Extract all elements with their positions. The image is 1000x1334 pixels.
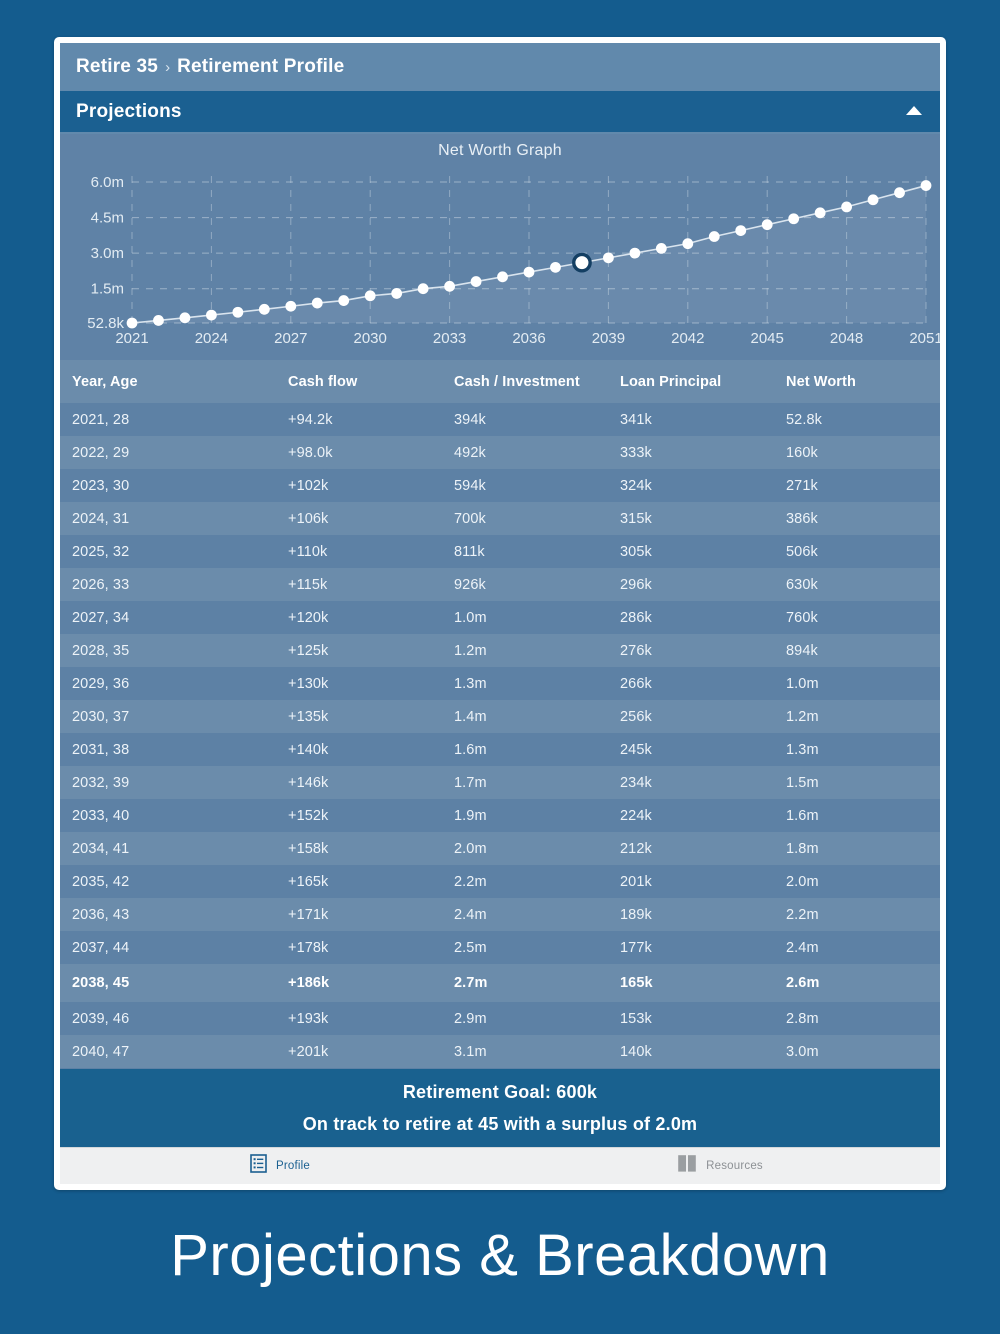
table-cell: 189k [620,898,786,931]
table-cell: 2040, 47 [60,1035,288,1068]
chart-point[interactable] [338,295,349,306]
table-row[interactable]: 2040, 47+201k3.1m140k3.0m [60,1035,940,1068]
column-header[interactable]: Year, Age [60,360,288,403]
chart-point[interactable] [285,301,296,312]
chart-point[interactable] [312,298,323,309]
chart-point[interactable] [127,318,138,329]
table-cell: 1.0m [786,667,940,700]
projections-table-wrap: Year, AgeCash flowCash / InvestmentLoan … [60,360,940,1069]
page-caption: Projections & Breakdown [0,1222,1000,1289]
table-cell: 760k [786,601,940,634]
chart-point[interactable] [841,201,852,212]
table-cell: 2023, 30 [60,469,288,502]
table-cell: 153k [620,1002,786,1035]
table-cell: 1.3m [454,667,620,700]
table-cell: 2.4m [454,898,620,931]
table-row[interactable]: 2033, 40+152k1.9m224k1.6m [60,799,940,832]
table-cell: +140k [288,733,454,766]
table-cell: 2035, 42 [60,865,288,898]
table-cell: 165k [620,964,786,1002]
table-cell: 2.9m [454,1002,620,1035]
y-axis-tick-label: 3.0m [91,245,124,262]
table-cell: 3.1m [454,1035,620,1068]
x-axis-tick-label: 2042 [671,330,704,347]
table-cell: 1.3m [786,733,940,766]
table-cell: 2033, 40 [60,799,288,832]
table-cell: 1.6m [786,799,940,832]
table-row[interactable]: 2021, 28+94.2k394k341k52.8k [60,403,940,436]
table-cell: +146k [288,766,454,799]
table-row[interactable]: 2037, 44+178k2.5m177k2.4m [60,931,940,964]
x-axis-tick-label: 2045 [751,330,784,347]
retirement-goal-status: On track to retire at 45 with a surplus … [303,1114,698,1135]
chart-point[interactable] [444,281,455,292]
table-cell: 2029, 36 [60,667,288,700]
list-document-icon [250,1154,267,1178]
table-row[interactable]: 2023, 30+102k594k324k271k [60,469,940,502]
table-body: 2021, 28+94.2k394k341k52.8k2022, 29+98.0… [60,403,940,1069]
chart-point[interactable] [391,288,402,299]
table-cell: +130k [288,667,454,700]
table-cell: +152k [288,799,454,832]
chart-point[interactable] [206,310,217,321]
column-header[interactable]: Cash / Investment [454,360,620,403]
table-cell: 492k [454,436,620,469]
breadcrumb: Retire 35 › Retirement Profile [60,43,940,91]
chart-point[interactable] [868,194,879,205]
table-cell: 2031, 38 [60,733,288,766]
table-header: Year, AgeCash flowCash / InvestmentLoan … [60,360,940,403]
chart-point-highlighted[interactable] [574,254,590,270]
breadcrumb-root[interactable]: Retire 35 [76,56,158,78]
table-cell: 305k [620,535,786,568]
net-worth-chart: Net Worth Graph 52.8k1.5m3.0m4.5m6.0m 20… [60,134,940,360]
column-header[interactable]: Loan Principal [620,360,786,403]
chart-point[interactable] [735,225,746,236]
nav-label-resources: Resources [706,1160,763,1172]
table-cell: 2.0m [454,832,620,865]
table-cell: 2.6m [786,964,940,1002]
table-cell: 2036, 43 [60,898,288,931]
table-cell: 160k [786,436,940,469]
chart-point[interactable] [815,207,826,218]
table-cell: +98.0k [288,436,454,469]
table-cell: 256k [620,700,786,733]
table-cell: 315k [620,502,786,535]
table-cell: 2.0m [786,865,940,898]
table-cell: +125k [288,634,454,667]
table-cell: 2.8m [786,1002,940,1035]
table-cell: 2.2m [454,865,620,898]
table-cell: 271k [786,469,940,502]
table-cell: 2028, 35 [60,634,288,667]
table-cell: 324k [620,469,786,502]
table-row[interactable]: 2039, 46+193k2.9m153k2.8m [60,1002,940,1035]
table-cell: 506k [786,535,940,568]
x-axis-tick-label: 2036 [512,330,545,347]
table-cell: +178k [288,931,454,964]
table-cell: 2.2m [786,898,940,931]
table-cell: 1.8m [786,832,940,865]
table-row[interactable]: 2038, 45+186k2.7m165k2.6m [60,964,940,1002]
table-header-row: Year, AgeCash flowCash / InvestmentLoan … [60,360,940,403]
nav-item-profile[interactable]: Profile [60,1154,500,1178]
column-header[interactable]: Net Worth [786,360,940,403]
app-screen: Retire 35 › Retirement Profile Projectio… [60,43,940,1184]
table-cell: +106k [288,502,454,535]
table-cell: +165k [288,865,454,898]
chart-point[interactable] [682,238,693,249]
table-cell: 1.6m [454,733,620,766]
chart-point[interactable] [921,180,932,191]
retirement-goal-headline: Retirement Goal: 600k [403,1082,597,1103]
table-cell: 2030, 37 [60,700,288,733]
chart-point[interactable] [788,213,799,224]
table-row[interactable]: 2032, 39+146k1.7m234k1.5m [60,766,940,799]
table-cell: 2026, 33 [60,568,288,601]
chart-point[interactable] [894,187,905,198]
table-cell: 333k [620,436,786,469]
table-cell: 266k [620,667,786,700]
nav-item-resources[interactable]: Resources [500,1154,940,1178]
table-cell: 894k [786,634,940,667]
table-cell: 386k [786,502,940,535]
chart-point[interactable] [550,262,561,273]
table-cell: 2024, 31 [60,502,288,535]
table-row[interactable]: 2034, 41+158k2.0m212k1.8m [60,832,940,865]
table-cell: +110k [288,535,454,568]
table-cell: 594k [454,469,620,502]
table-cell: 1.5m [786,766,940,799]
table-row[interactable]: 2024, 31+106k700k315k386k [60,502,940,535]
table-cell: +158k [288,832,454,865]
table-cell: 3.0m [786,1035,940,1068]
table-row[interactable]: 2031, 38+140k1.6m245k1.3m [60,733,940,766]
table-cell: 1.0m [454,601,620,634]
bottom-navigation: Profile Resources [60,1147,940,1184]
table-cell: 2.4m [786,931,940,964]
table-cell: 1.7m [454,766,620,799]
y-axis-tick-label: 6.0m [91,174,124,191]
table-cell: 2039, 46 [60,1002,288,1035]
table-row[interactable]: 2025, 32+110k811k305k506k [60,535,940,568]
table-cell: 177k [620,931,786,964]
table-cell: +135k [288,700,454,733]
chart-point[interactable] [656,243,667,254]
table-cell: +186k [288,964,454,1002]
table-row[interactable]: 2035, 42+165k2.2m201k2.0m [60,865,940,898]
x-axis-tick-label: 2048 [830,330,863,347]
table-cell: 234k [620,766,786,799]
x-axis-tick-label: 2039 [592,330,625,347]
table-cell: 394k [454,403,620,436]
page-root: Retire 35 › Retirement Profile Projectio… [0,0,1000,1334]
chart-point[interactable] [629,248,640,259]
table-cell: +102k [288,469,454,502]
table-cell: 245k [620,733,786,766]
chart-point[interactable] [471,276,482,287]
table-cell: 700k [454,502,620,535]
y-axis-tick-label: 4.5m [91,210,124,227]
table-cell: +193k [288,1002,454,1035]
table-cell: 2.7m [454,964,620,1002]
table-cell: 630k [786,568,940,601]
chevron-up-icon[interactable] [906,106,922,115]
table-row[interactable]: 2026, 33+115k926k296k630k [60,568,940,601]
x-axis-tick-label: 2030 [354,330,387,347]
device-frame: Retire 35 › Retirement Profile Projectio… [54,37,946,1190]
table-cell: 2038, 45 [60,964,288,1002]
table-cell: 224k [620,799,786,832]
table-cell: +201k [288,1035,454,1068]
x-axis-tick-label: 2051 [909,330,940,347]
table-cell: 2034, 41 [60,832,288,865]
chart-point[interactable] [365,290,376,301]
table-cell: +171k [288,898,454,931]
chart-point[interactable] [603,252,614,263]
table-row[interactable]: 2036, 43+171k2.4m189k2.2m [60,898,940,931]
table-cell: 2021, 28 [60,403,288,436]
chart-point[interactable] [232,307,243,318]
table-cell: 2025, 32 [60,535,288,568]
x-axis-tick-label: 2027 [274,330,307,347]
table-cell: 296k [620,568,786,601]
table-cell: 286k [620,601,786,634]
chart-point[interactable] [180,312,191,323]
chart-y-axis-labels: 52.8k1.5m3.0m4.5m6.0m [87,174,124,332]
chart-point[interactable] [762,219,773,230]
chart-point[interactable] [709,231,720,242]
y-axis-tick-label: 1.5m [91,281,124,298]
chart-point[interactable] [153,315,164,326]
table-row[interactable]: 2022, 29+98.0k492k333k160k [60,436,940,469]
table-row[interactable]: 2027, 34+120k1.0m286k760k [60,601,940,634]
table-cell: 926k [454,568,620,601]
table-cell: 2037, 44 [60,931,288,964]
table-cell: 1.2m [454,634,620,667]
retirement-goal-panel: Retirement Goal: 600k On track to retire… [60,1069,940,1147]
table-cell: 1.9m [454,799,620,832]
projections-table: Year, AgeCash flowCash / InvestmentLoan … [60,360,940,1069]
table-cell: 341k [620,403,786,436]
table-cell: 1.2m [786,700,940,733]
table-cell: 140k [620,1035,786,1068]
table-row[interactable]: 2030, 37+135k1.4m256k1.2m [60,700,940,733]
x-axis-tick-label: 2033 [433,330,466,347]
table-cell: +115k [288,568,454,601]
breadcrumb-separator-icon: › [165,59,170,76]
table-cell: 2027, 34 [60,601,288,634]
column-header[interactable]: Cash flow [288,360,454,403]
x-axis-tick-label: 2021 [115,330,148,347]
table-cell: +120k [288,601,454,634]
chart-point[interactable] [418,283,429,294]
x-axis-tick-label: 2024 [195,330,228,347]
chart-point[interactable] [524,267,535,278]
chart-canvas: 52.8k1.5m3.0m4.5m6.0m 202120242027203020… [60,134,940,360]
projections-section-header[interactable]: Projections [60,91,940,134]
chart-point[interactable] [259,304,270,315]
open-book-icon [677,1154,697,1178]
table-cell: 52.8k [786,403,940,436]
section-title: Projections [76,101,182,123]
table-cell: 811k [454,535,620,568]
table-cell: 2032, 39 [60,766,288,799]
nav-label-profile: Profile [276,1160,310,1172]
table-row[interactable]: 2029, 36+130k1.3m266k1.0m [60,667,940,700]
table-cell: 2022, 29 [60,436,288,469]
table-cell: 1.4m [454,700,620,733]
table-row[interactable]: 2028, 35+125k1.2m276k894k [60,634,940,667]
chart-x-axis-labels: 2021202420272030203320362039204220452048… [115,330,940,347]
table-cell: 276k [620,634,786,667]
breadcrumb-current: Retirement Profile [177,56,344,78]
table-cell: +94.2k [288,403,454,436]
table-cell: 201k [620,865,786,898]
table-cell: 212k [620,832,786,865]
table-cell: 2.5m [454,931,620,964]
chart-point[interactable] [497,271,508,282]
